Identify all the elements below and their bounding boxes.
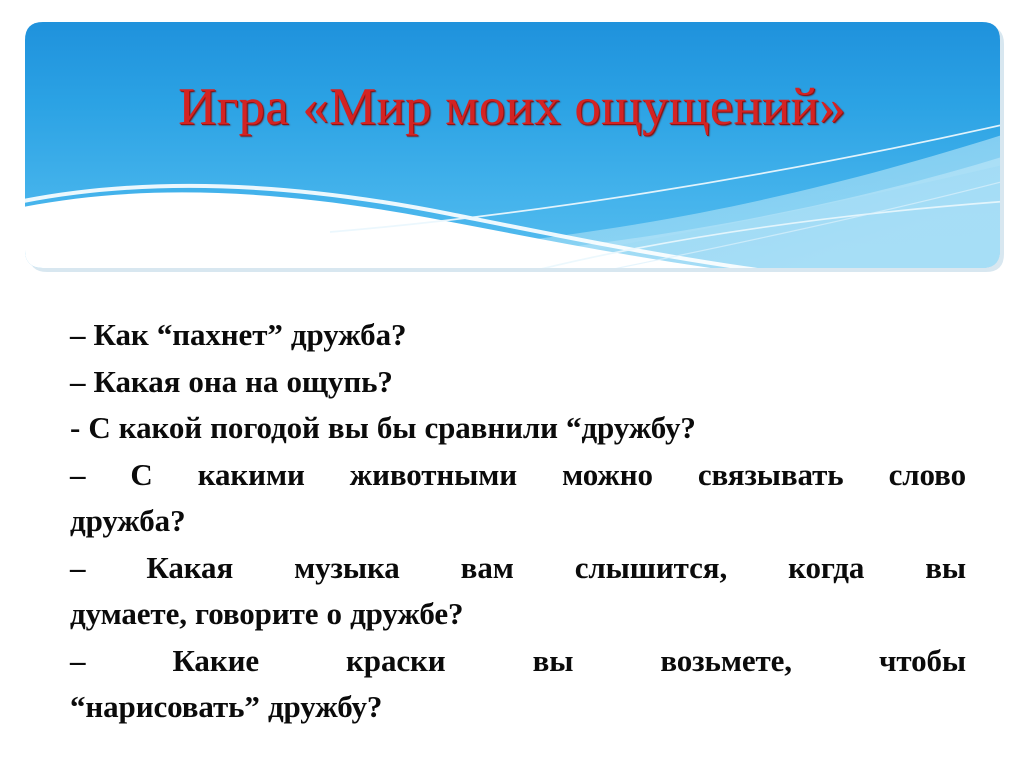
question-text: – Какая она на ощупь? [70, 364, 393, 399]
question-text: – Как “пахнет” дружба? [70, 317, 406, 352]
question-item-1: – Как “пахнет” дружба? [70, 312, 966, 359]
question-text: - С какой погодой вы бы сравнили “дружбу… [70, 410, 696, 445]
question-text-line2: “нарисовать” дружбу? [70, 689, 382, 724]
question-item-5: – Какая музыка вам слышится, когда вы ду… [70, 545, 966, 638]
question-text-line2: дружба? [70, 503, 185, 538]
wave-banner [0, 0, 1024, 292]
question-text-line1: – С какими животными можно связывать сло… [70, 452, 966, 499]
title-container: Игра «Мир моих ощущений» [0, 72, 1024, 142]
question-list: – Как “пахнет” дружба? – Какая она на ощ… [70, 312, 966, 731]
question-text-line1: – Какая музыка вам слышится, когда вы [70, 545, 966, 592]
question-item-2: – Какая она на ощупь? [70, 359, 966, 406]
question-text-line1: – Какие краски вы возьмете, чтобы [70, 638, 966, 685]
question-item-4: – С какими животными можно связывать сло… [70, 452, 966, 545]
page-title: Игра «Мир моих ощущений» [178, 80, 846, 134]
slide-canvas: Игра «Мир моих ощущений» – Как “пахнет” … [0, 0, 1024, 767]
question-item-6: – Какие краски вы возьмете, чтобы “нарис… [70, 638, 966, 731]
question-item-3: - С какой погодой вы бы сравнили “дружбу… [70, 405, 966, 452]
question-text-line2: думаете, говорите о дружбе? [70, 596, 463, 631]
